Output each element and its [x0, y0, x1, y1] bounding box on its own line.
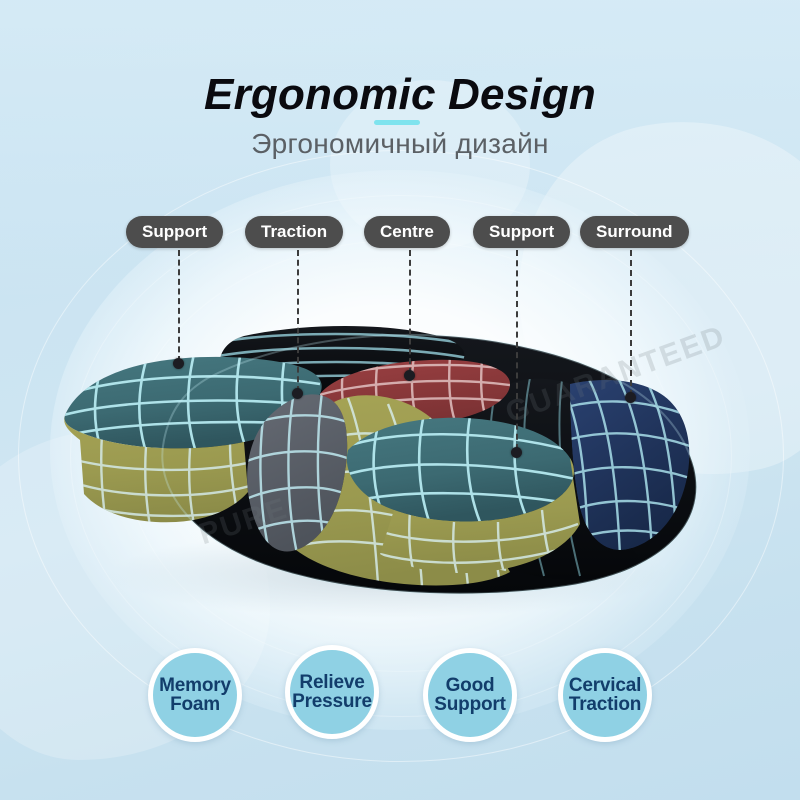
title-divider: [374, 120, 420, 125]
feature-badge-line1: Memory: [157, 676, 233, 695]
callout-pill-support-1[interactable]: Support: [126, 216, 223, 248]
feature-badge-relieve-pressure[interactable]: RelievePressure: [285, 645, 379, 739]
feature-badge-label: MemoryFoam: [155, 676, 235, 715]
leader-line-1: [178, 250, 180, 362]
feature-badge-memory-foam[interactable]: MemoryFoam: [148, 648, 242, 742]
leader-endpoint-dot-4: [511, 447, 522, 458]
leader-line-2: [297, 250, 299, 392]
feature-badge-line2: Pressure: [290, 692, 374, 711]
feature-badge-good-support[interactable]: GoodSupport: [423, 648, 517, 742]
callout-pill-traction-2[interactable]: Traction: [245, 216, 343, 248]
leader-endpoint-dot-3: [404, 370, 415, 381]
leader-endpoint-dot-5: [625, 392, 636, 403]
feature-badge-label: CervicalTraction: [565, 676, 645, 715]
feature-badge-line2: Foam: [157, 695, 233, 714]
leader-endpoint-dot-1: [173, 358, 184, 369]
callout-pill-centre-3[interactable]: Centre: [364, 216, 450, 248]
feature-badge-label: GoodSupport: [430, 676, 509, 715]
page-title: Ergonomic Design: [0, 70, 800, 120]
infographic-page: Ergonomic Design Эргономичный дизайн: [0, 0, 800, 800]
feature-badge-line1: Relieve: [290, 673, 374, 692]
callout-pill-surround-5[interactable]: Surround: [580, 216, 689, 248]
callout-pill-support-4[interactable]: Support: [473, 216, 570, 248]
leader-line-3: [409, 250, 411, 374]
feature-badge-cervical-traction[interactable]: CervicalTraction: [558, 648, 652, 742]
page-subtitle: Эргономичный дизайн: [0, 128, 800, 160]
leader-line-4: [516, 250, 518, 450]
feature-badge-line1: Cervical: [567, 676, 643, 695]
pillow-illustration: [58, 318, 742, 618]
feature-badge-line2: Traction: [567, 695, 643, 714]
feature-badge-label: RelievePressure: [288, 673, 376, 712]
feature-badge-line1: Good: [432, 676, 507, 695]
leader-line-5: [630, 250, 632, 396]
feature-badge-line2: Support: [432, 695, 507, 714]
leader-endpoint-dot-2: [292, 388, 303, 399]
